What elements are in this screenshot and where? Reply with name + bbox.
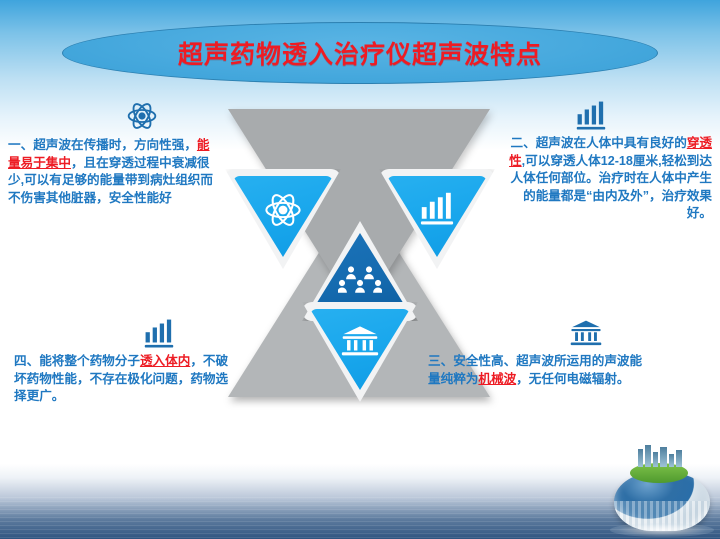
feature-4-number: 四、 xyxy=(14,354,39,368)
atom-icon xyxy=(126,100,158,137)
feature-4-lead: 能将整个药物分子 xyxy=(39,354,140,368)
feature-4-highlight: 透入体内 xyxy=(140,354,190,368)
feature-3-text: 三、安全性高、超声波所运用的声波能量纯粹为机械波，无任何电磁辐射。 xyxy=(428,353,654,388)
feature-2-number: 二、 xyxy=(511,136,536,150)
bar-chart-icon xyxy=(143,318,175,353)
city-building xyxy=(660,447,667,467)
feature-2-text: 二、超声波在人体中具有良好的穿透性,可以穿透人体12-18厘米,轻松到达人体任何… xyxy=(498,135,712,223)
city-building xyxy=(645,445,651,467)
feature-1-icon-row xyxy=(8,100,213,137)
feature-1-text: 一、超声波在传播时，方向性强，能量易于集中，且在穿透过程中衰减很少,可以有足够的… xyxy=(8,137,213,207)
city-building xyxy=(669,454,674,467)
bank-icon xyxy=(570,318,602,353)
feature-2-tail: ,可以穿透人体12-18厘米,轻松到达人体任何部位。治疗时在人体中产生的能量都是… xyxy=(511,154,713,221)
earth-city-globe-graphic xyxy=(608,445,716,537)
city-building xyxy=(676,450,682,467)
globe-reflection xyxy=(610,523,714,537)
bar-chart-icon xyxy=(575,100,607,135)
feature-block-4: 四、能将整个药物分子透入体内，不破坏药物性能，不存在极化问题，药物选择更广。 xyxy=(14,318,234,406)
city-building xyxy=(638,449,643,467)
feature-2-lead: 超声波在人体中具有良好的 xyxy=(536,136,687,150)
feature-3-number: 三、 xyxy=(428,354,453,368)
feature-block-3: 三、安全性高、超声波所运用的声波能量纯粹为机械波，无任何电磁辐射。 xyxy=(428,318,654,388)
feature-1-number: 一、 xyxy=(8,138,33,152)
tile-face xyxy=(310,309,410,390)
feature-3-icon-row xyxy=(428,318,654,353)
feature-block-2: 二、超声波在人体中具有良好的穿透性,可以穿透人体12-18厘米,轻松到达人体任何… xyxy=(498,100,712,223)
diagram-tile-bottom[interactable] xyxy=(302,302,418,402)
feature-1-lead: 超声波在传播时，方向性强， xyxy=(33,138,197,152)
feature-3-highlight: 机械波 xyxy=(478,372,516,386)
slide-canvas: 超声药物透入治疗仪超声波特点 xyxy=(0,0,720,539)
feature-4-icon-row xyxy=(14,318,234,353)
city-building xyxy=(653,452,658,467)
title-banner: 超声药物透入治疗仪超声波特点 xyxy=(62,22,658,84)
feature-block-1: 一、超声波在传播时，方向性强，能量易于集中，且在穿透过程中衰减很少,可以有足够的… xyxy=(8,100,213,207)
feature-4-text: 四、能将整个药物分子透入体内，不破坏药物性能，不存在极化问题，药物选择更广。 xyxy=(14,353,234,406)
feature-3-tail: ，无任何电磁辐射。 xyxy=(516,372,629,386)
feature-2-icon-row xyxy=(498,100,712,135)
page-title: 超声药物透入治疗仪超声波特点 xyxy=(178,35,542,71)
